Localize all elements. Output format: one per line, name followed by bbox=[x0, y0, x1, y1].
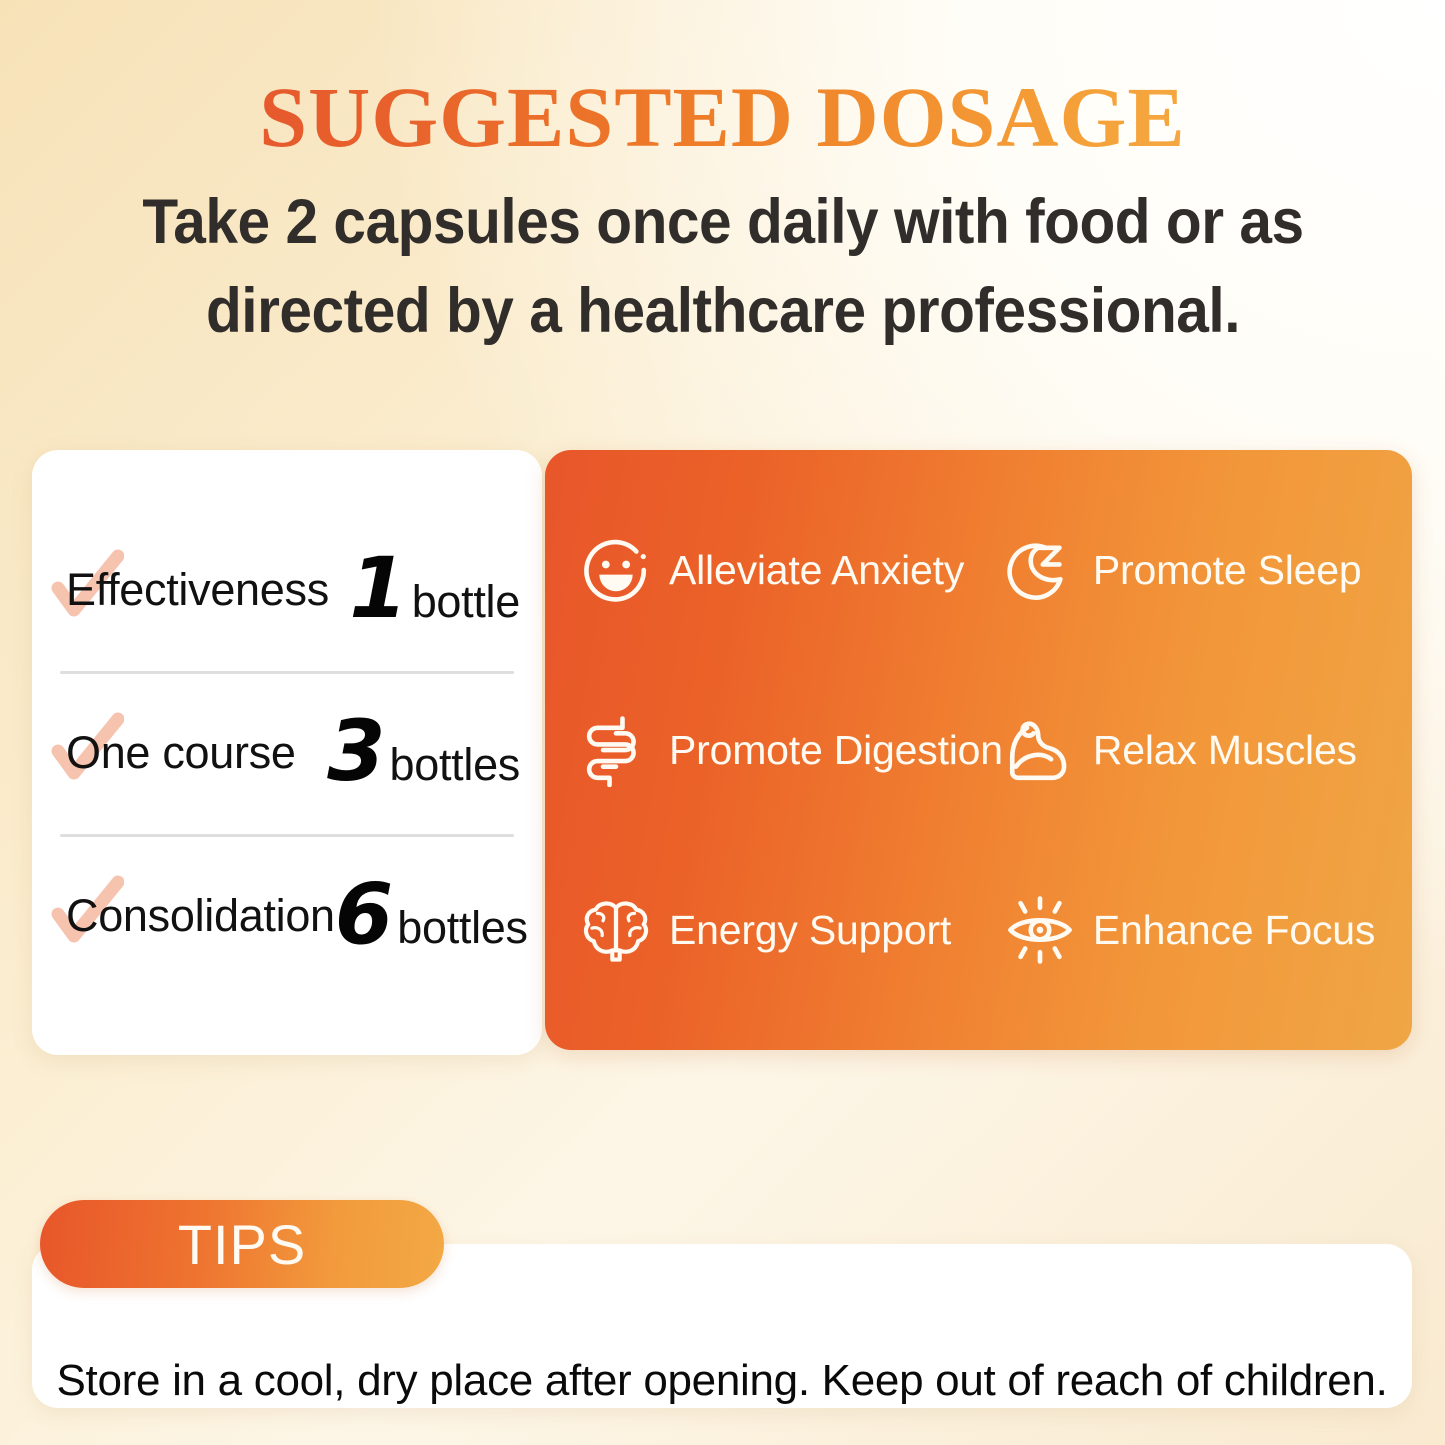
benefit-item-alleviate-anxiety: Alleviate Anxiety bbox=[579, 533, 1003, 607]
benefit-item-energy-support: Energy Support bbox=[579, 893, 1003, 967]
plan-unit: bottles bbox=[397, 902, 527, 954]
tips-text: Store in a cool, dry place after opening… bbox=[32, 1356, 1412, 1406]
plan-quantity: 6 bottles bbox=[335, 877, 528, 954]
benefit-label: Relax Muscles bbox=[1093, 727, 1357, 774]
moon-sleep-icon bbox=[1003, 533, 1077, 607]
benefit-item-promote-digestion: Promote Digestion bbox=[579, 713, 1003, 787]
smiley-face-icon bbox=[579, 533, 653, 607]
plan-row: One course 3 bottles bbox=[32, 671, 542, 834]
plan-quantity: 3 bottles bbox=[327, 714, 520, 791]
benefit-item-enhance-focus: Enhance Focus bbox=[1003, 893, 1386, 967]
plan-unit: bottle bbox=[412, 576, 520, 628]
cards-row: Effectiveness 1 bottle One course 3 bott… bbox=[32, 450, 1412, 1055]
plan-label: Consolidation bbox=[66, 890, 335, 942]
eye-icon bbox=[1003, 893, 1077, 967]
brain-icon bbox=[579, 893, 653, 967]
tips-section: Store in a cool, dry place after opening… bbox=[32, 1200, 1412, 1408]
plan-row: Effectiveness 1 bottle bbox=[32, 508, 542, 671]
page-title: SUGGESTED DOSAGE bbox=[0, 74, 1445, 160]
plan-label: Effectiveness bbox=[66, 564, 329, 616]
plan-quantity: 1 bottle bbox=[349, 551, 520, 628]
plan-number: 1 bbox=[349, 551, 405, 627]
dosage-plan-rows: Effectiveness 1 bottle One course 3 bott… bbox=[32, 508, 542, 997]
benefit-label: Energy Support bbox=[669, 907, 951, 954]
benefit-label: Enhance Focus bbox=[1093, 907, 1375, 954]
benefit-item-relax-muscles: Relax Muscles bbox=[1003, 713, 1386, 787]
benefit-label: Alleviate Anxiety bbox=[669, 547, 964, 594]
tips-badge: TIPS bbox=[40, 1200, 444, 1288]
page-subtitle: Take 2 capsules once daily with food or … bbox=[137, 178, 1309, 357]
plan-row: Consolidation 6 bottles bbox=[32, 834, 542, 997]
benefits-card: Alleviate Anxiety Promote Sleep Promote … bbox=[545, 450, 1412, 1050]
tips-badge-label: TIPS bbox=[178, 1212, 306, 1277]
intestines-icon bbox=[579, 713, 653, 787]
benefit-item-promote-sleep: Promote Sleep bbox=[1003, 533, 1386, 607]
plan-unit: bottles bbox=[390, 739, 520, 791]
flexed-bicep-icon bbox=[1003, 713, 1077, 787]
page-header: SUGGESTED DOSAGE Take 2 capsules once da… bbox=[0, 0, 1445, 357]
plan-number: 6 bbox=[335, 877, 391, 953]
dosage-plan-card: Effectiveness 1 bottle One course 3 bott… bbox=[32, 450, 542, 1055]
plan-number: 3 bbox=[327, 714, 383, 790]
benefit-label: Promote Sleep bbox=[1093, 547, 1362, 594]
benefit-label: Promote Digestion bbox=[669, 727, 1003, 774]
plan-label: One course bbox=[66, 727, 296, 779]
